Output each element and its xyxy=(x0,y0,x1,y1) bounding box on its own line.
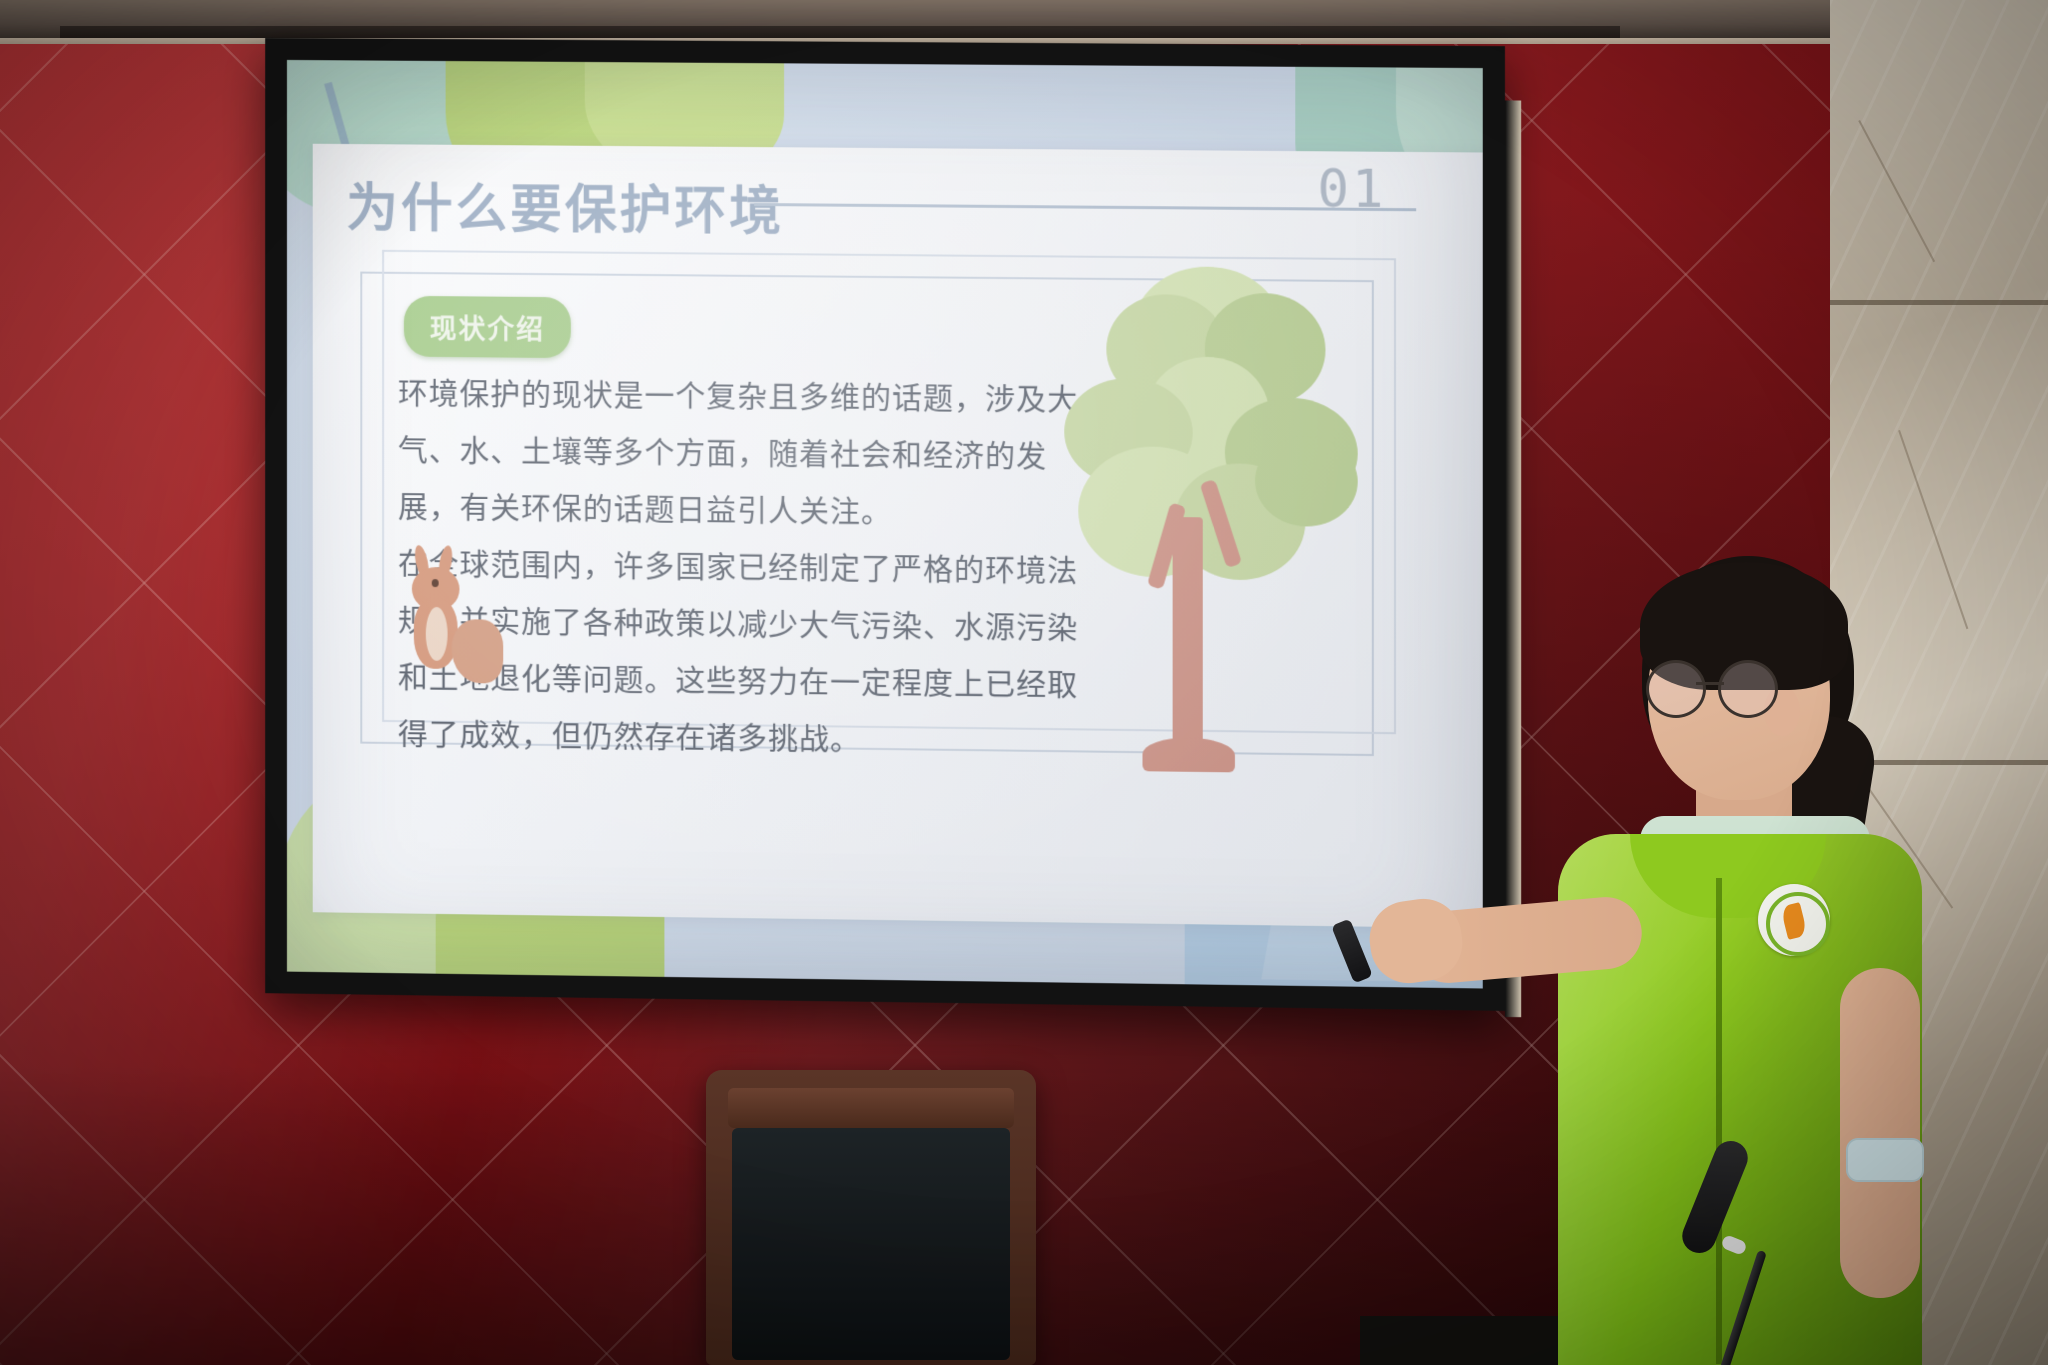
glasses-lens-right xyxy=(1718,660,1778,718)
projection-screen: 为什么要保护环境 01 现状介绍 环境保护的现状是一个复杂且多维的话题，涉及大气… xyxy=(265,38,1505,1011)
squirrel-illustration xyxy=(398,545,507,686)
mic-stem xyxy=(1718,1250,1767,1365)
section-number: 01 xyxy=(1317,159,1386,220)
chair-leather-pad xyxy=(732,1128,1010,1360)
marble-seam xyxy=(1830,300,2048,305)
slide-paragraph-1: 环境保护的现状是一个复杂且多维的话题，涉及大气、水、土壤等多个方面，随着社会和经… xyxy=(398,366,1096,544)
smartwatch xyxy=(1846,1138,1924,1182)
slide-title: 为什么要保护环境 xyxy=(346,166,784,244)
slide: 为什么要保护环境 01 现状介绍 环境保护的现状是一个复杂且多维的话题，涉及大气… xyxy=(287,60,1483,989)
mic-ring xyxy=(1720,1234,1747,1256)
gooseneck-microphone xyxy=(1698,1138,1848,1365)
screen-surface: 为什么要保护环境 01 现状介绍 环境保护的现状是一个复杂且多维的话题，涉及大气… xyxy=(287,60,1483,989)
glasses-lens-left xyxy=(1646,660,1706,718)
chair xyxy=(706,1070,1036,1365)
marble-vein xyxy=(1858,120,1935,262)
glasses-bridge xyxy=(1696,682,1724,685)
right-arm xyxy=(1840,968,1920,1298)
status-badge: 现状介绍 xyxy=(404,296,571,358)
scene-photo: 为什么要保护环境 01 现状介绍 环境保护的现状是一个复杂且多维的话题，涉及大气… xyxy=(0,0,2048,1365)
volunteer-logo xyxy=(1758,884,1830,956)
chair-top-rail xyxy=(728,1088,1014,1128)
glasses-icon xyxy=(1646,660,1772,712)
tree-illustration xyxy=(1054,265,1386,810)
